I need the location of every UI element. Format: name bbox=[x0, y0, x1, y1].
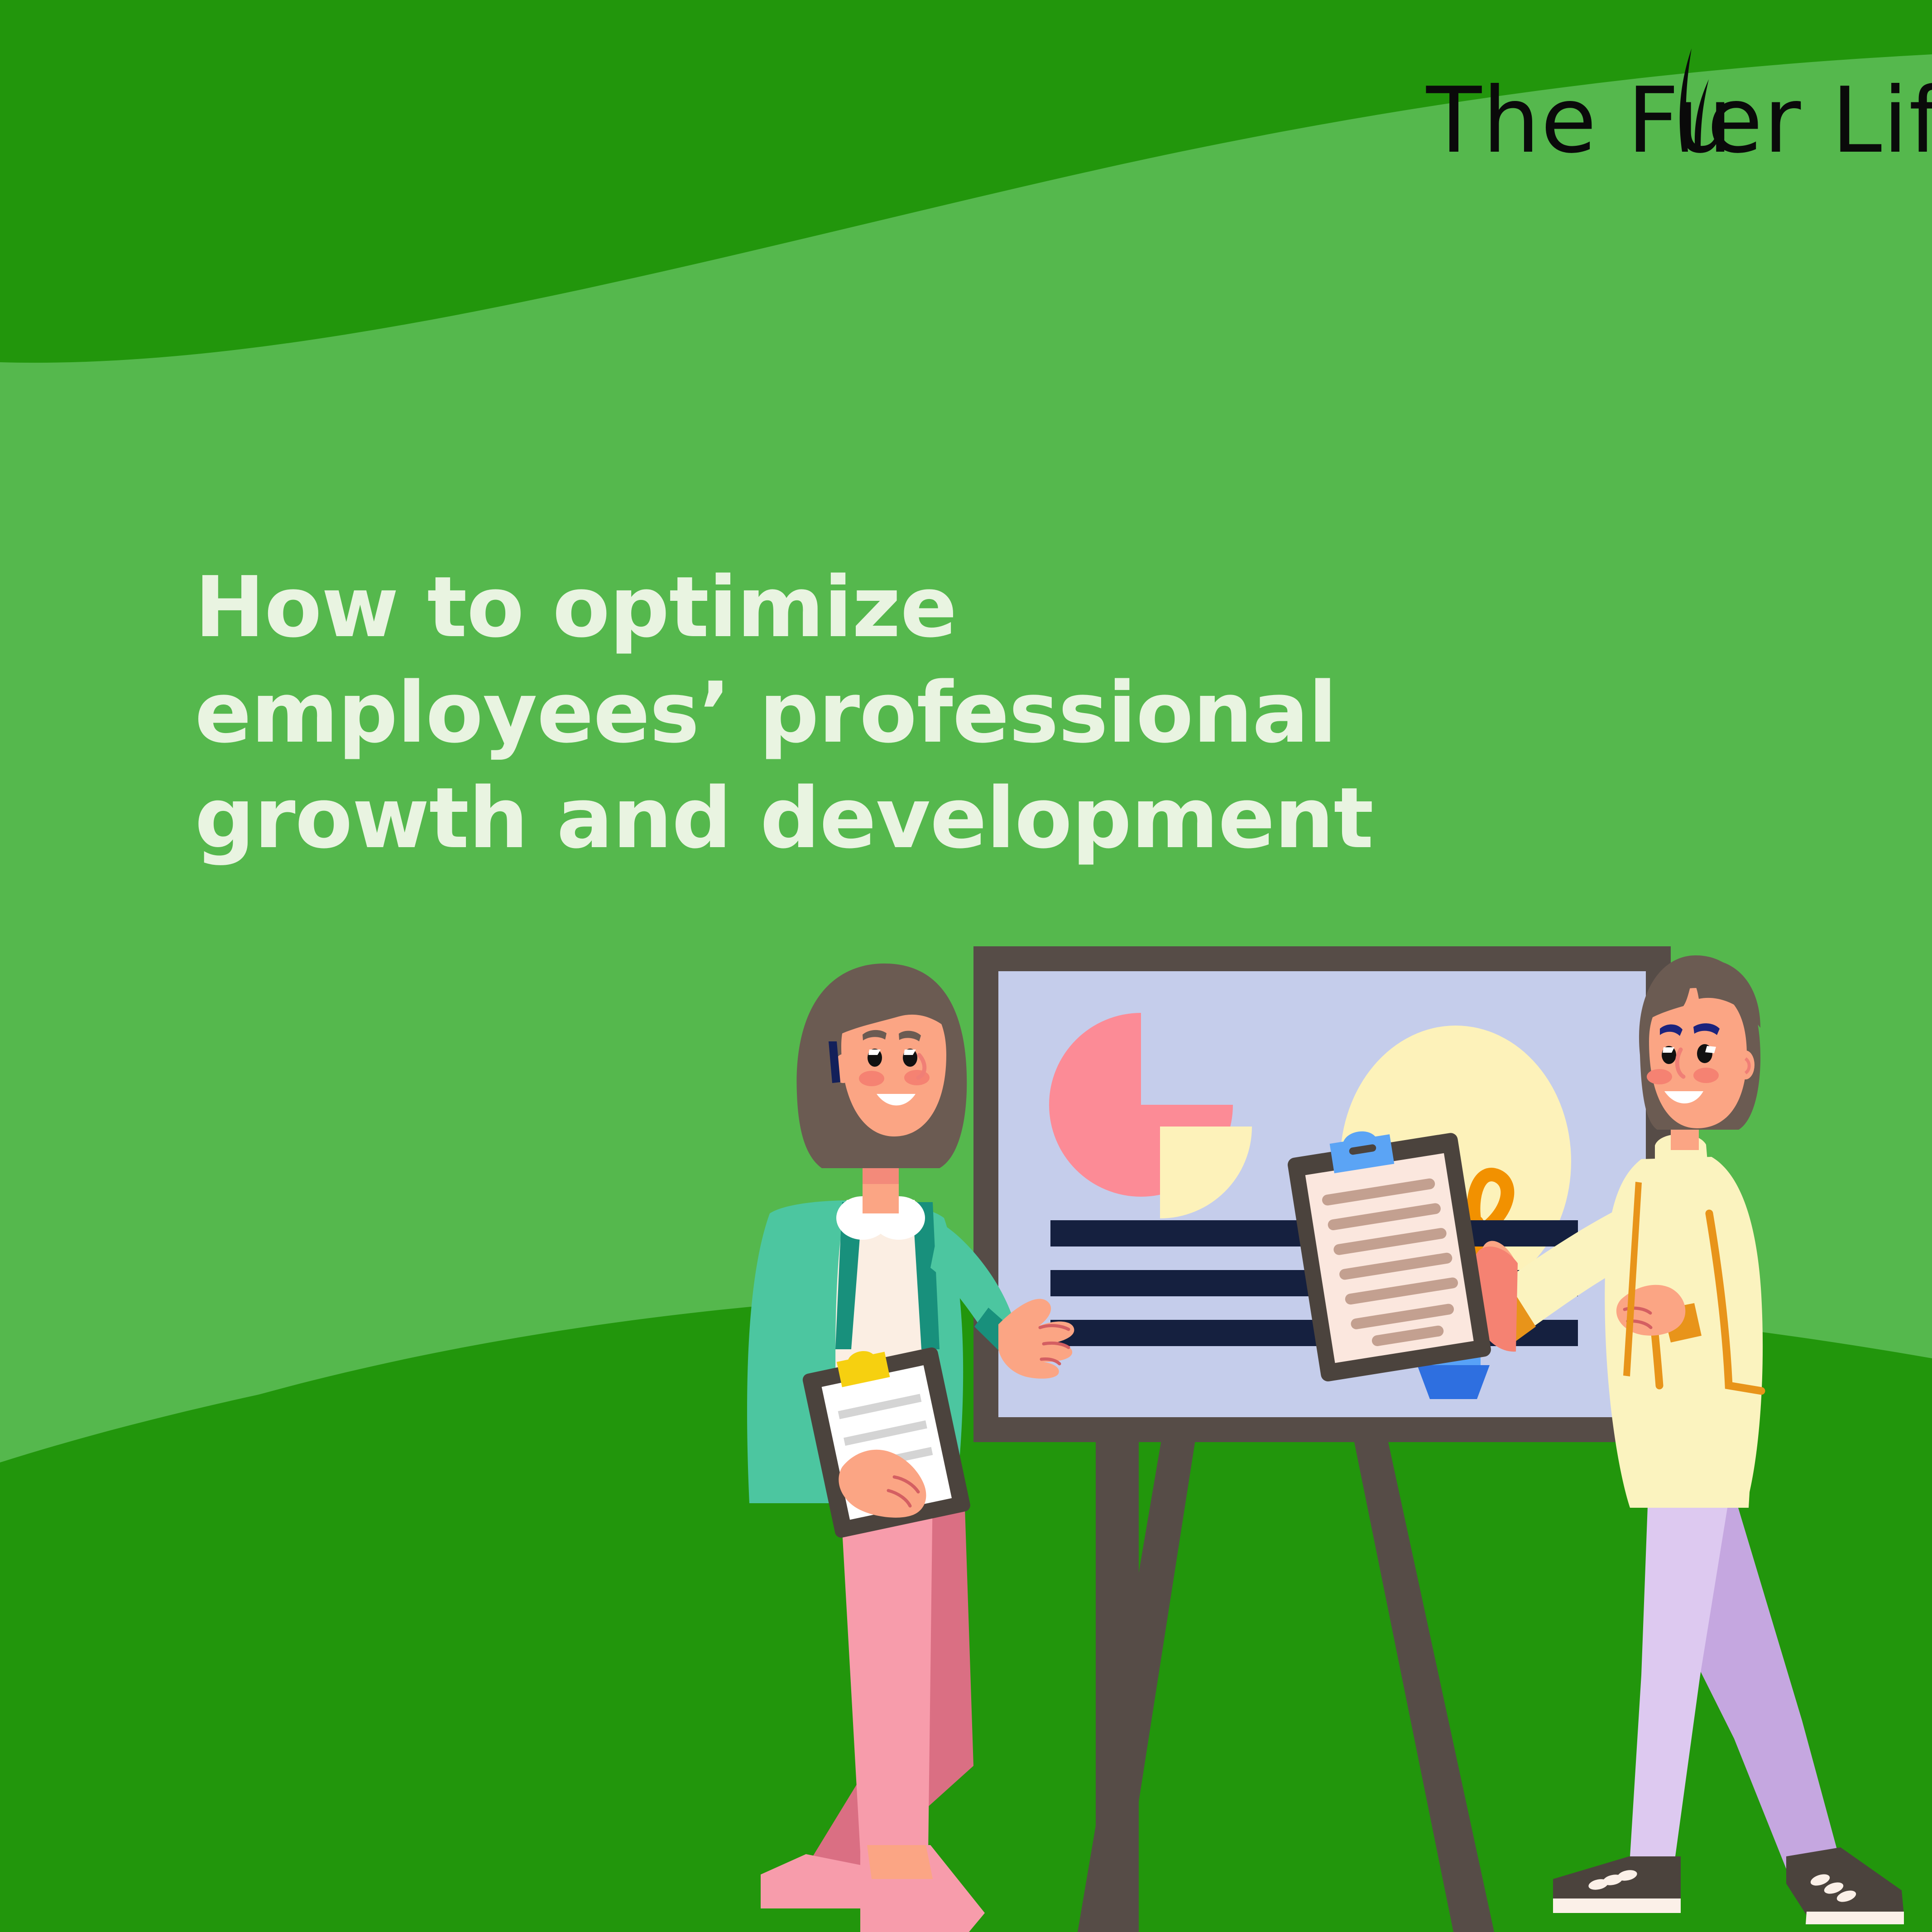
man-ear bbox=[1736, 1050, 1755, 1079]
man-sweater-hem bbox=[1630, 1485, 1750, 1508]
woman-holding-arm bbox=[756, 1232, 815, 1462]
woman-neck-shadow bbox=[863, 1166, 899, 1184]
man-eye-highlight-right bbox=[1705, 1046, 1716, 1053]
illustration-scene bbox=[0, 0, 1932, 1932]
lightbulb-base bbox=[1417, 1365, 1490, 1399]
man-blush-left bbox=[1647, 1069, 1672, 1084]
easel-leg-right bbox=[1354, 1440, 1494, 1932]
social-card-canvas: The Fu er Life How to optimize employees… bbox=[0, 0, 1932, 1932]
woman-front-shoe-top bbox=[867, 1845, 933, 1879]
man-blush-right bbox=[1693, 1068, 1719, 1083]
woman-blush-left bbox=[859, 1071, 884, 1086]
easel-leg-center bbox=[1096, 1440, 1139, 1932]
man-front-shoe-sole bbox=[1553, 1898, 1681, 1913]
man-back-shoe-sole bbox=[1806, 1912, 1904, 1924]
man-back-shoe bbox=[1786, 1847, 1904, 1915]
easel-legs bbox=[1078, 1440, 1494, 1932]
